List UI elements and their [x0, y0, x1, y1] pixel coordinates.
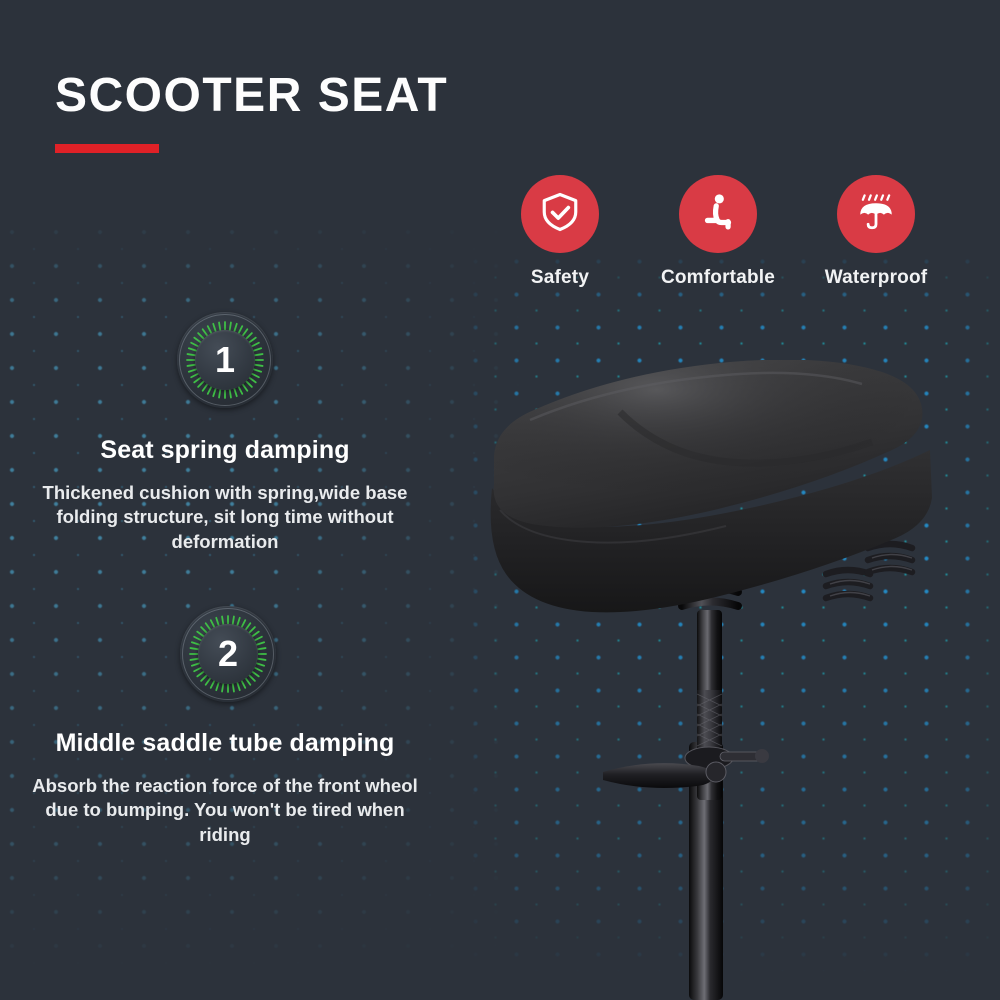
feature-item-safety: Safety: [500, 175, 620, 289]
feature-block-2: Middle saddle tube damping Absorb the re…: [25, 729, 425, 847]
step-dial-badge-1: 1: [177, 312, 273, 408]
step-number: 2: [218, 636, 238, 672]
feature-badge-circle: [521, 175, 599, 253]
dial-inner-knob: 1: [195, 330, 255, 390]
dial-inner-knob: 2: [198, 624, 258, 684]
feature-label: Comfortable: [658, 267, 778, 289]
infographic-page: SCOOTER SEAT Safety: [0, 0, 1000, 1000]
feature-label: Waterproof: [816, 267, 936, 289]
product-image: [470, 360, 1000, 1000]
feature-item-waterproof: Waterproof: [816, 175, 936, 289]
feature-label: Safety: [500, 267, 620, 289]
feature-block-body: Absorb the reaction force of the front w…: [25, 774, 425, 847]
feature-block-heading: Middle saddle tube damping: [25, 729, 425, 758]
step-dial-badge-2: 2: [180, 606, 276, 702]
feature-badge-row: Safety Comfortable: [500, 175, 936, 289]
feature-badge-circle: [837, 175, 915, 253]
title-underline-rule: [55, 144, 159, 153]
step-number: 1: [215, 342, 235, 378]
feature-item-comfortable: Comfortable: [658, 175, 778, 289]
feature-badge-circle: [679, 175, 757, 253]
feature-block-1: Seat spring damping Thickened cushion wi…: [25, 436, 425, 554]
umbrella-rain-icon: [855, 191, 897, 238]
feature-block-body: Thickened cushion with spring,wide base …: [25, 481, 425, 554]
shield-check-icon: [539, 191, 581, 238]
page-title: SCOOTER SEAT: [55, 68, 448, 123]
feature-block-heading: Seat spring damping: [25, 436, 425, 465]
seated-person-icon: [697, 191, 739, 238]
